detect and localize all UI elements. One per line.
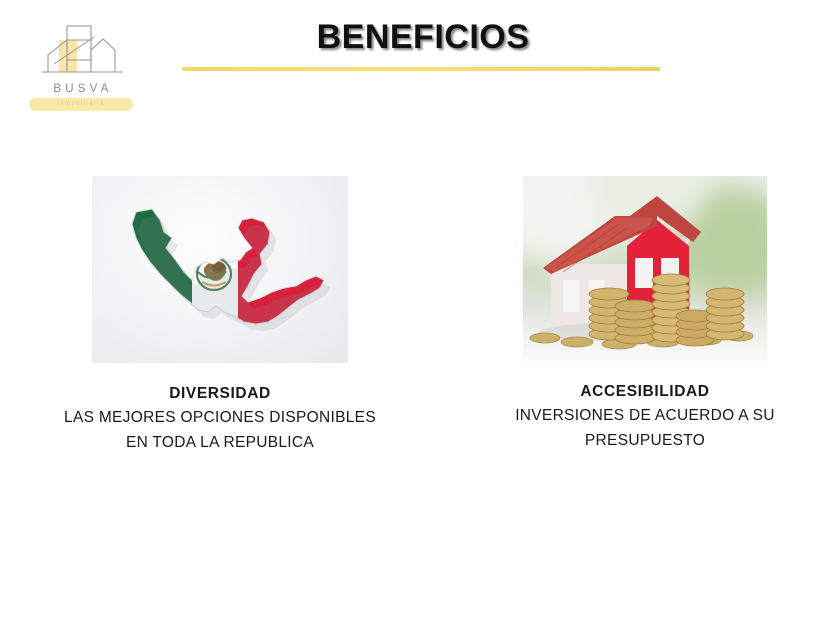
house-coins-image xyxy=(523,176,767,361)
benefit-description-line-1: INVERSIONES DE ACUERDO A SU xyxy=(450,404,840,428)
benefit-description-line-2: EN TODA LA REPUBLICA xyxy=(20,431,420,455)
slide-title: BENEFICIOS xyxy=(180,18,666,57)
mexico-map-shape-icon xyxy=(92,176,348,363)
logo-wordmark: BUSVA xyxy=(26,83,136,95)
slide-canvas: BUSVA Inmobiliaria BENEFICIOS xyxy=(0,0,840,630)
benefit-card-diversidad: DIVERSIDAD LAS MEJORES OPCIONES DISPONIB… xyxy=(20,176,420,455)
benefit-heading: ACCESIBILIDAD xyxy=(450,381,840,403)
benefit-heading: DIVERSIDAD xyxy=(20,383,420,405)
house-and-coins-icon xyxy=(523,176,767,361)
benefit-description-line-1: LAS MEJORES OPCIONES DISPONIBLES xyxy=(20,406,420,430)
benefit-description-line-2: PRESUPUESTO xyxy=(450,429,840,453)
logo-buildings-icon xyxy=(26,22,136,82)
benefit-card-accesibilidad: ACCESIBILIDAD INVERSIONES DE ACUERDO A S… xyxy=(450,176,840,453)
mexico-flag-map-image xyxy=(92,176,348,363)
benefit-caption-diversidad: DIVERSIDAD LAS MEJORES OPCIONES DISPONIB… xyxy=(20,383,420,455)
brand-logo[interactable]: BUSVA Inmobiliaria xyxy=(26,22,136,118)
logo-tagline-pill: Inmobiliaria xyxy=(29,98,133,111)
logo-tagline: Inmobiliaria xyxy=(29,100,133,109)
title-underline-rule xyxy=(182,67,660,71)
benefit-caption-accesibilidad: ACCESIBILIDAD INVERSIONES DE ACUERDO A S… xyxy=(450,381,840,453)
